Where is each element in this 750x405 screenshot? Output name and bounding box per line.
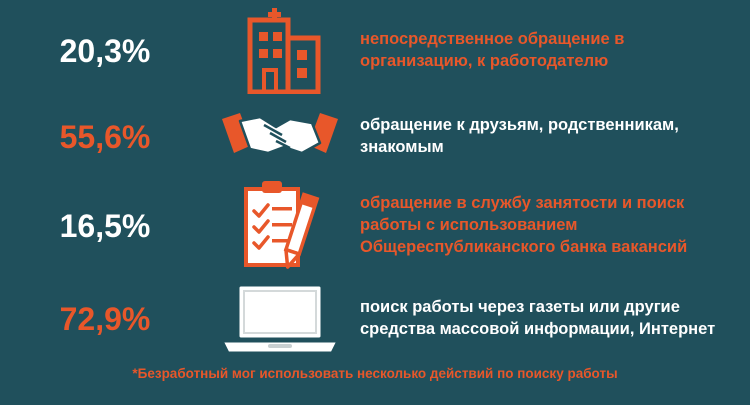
stat-label: обращение к друзьям, родственникам, знак… [350,115,750,159]
infographic-root: 20,3% [0,0,750,405]
stat-row: 55,6% обращение к друзьям, родственникам… [0,98,750,176]
laptop-icon [210,279,350,359]
building-icon [210,8,350,94]
stat-value: 16,5% [0,208,210,245]
handshake-icon [210,105,350,169]
stat-label: непосредственное обращение в организацию… [350,29,750,73]
stat-value: 55,6% [0,119,210,156]
stat-row: 72,9% поиск работы через газеты или друг… [0,276,750,362]
stat-value: 20,3% [0,33,210,70]
stat-value: 72,9% [0,301,210,338]
stat-label: поиск работы через газеты или другие сре… [350,297,750,341]
stat-row: 16,5% [0,176,750,276]
checklist-pencil-icon [210,179,350,273]
stat-rows: 20,3% [0,0,750,362]
footnote: *Безработный мог использовать несколько … [0,366,750,381]
stat-label: обращение в службу занятости и поиск раб… [350,193,750,259]
stat-row: 20,3% [0,6,750,96]
